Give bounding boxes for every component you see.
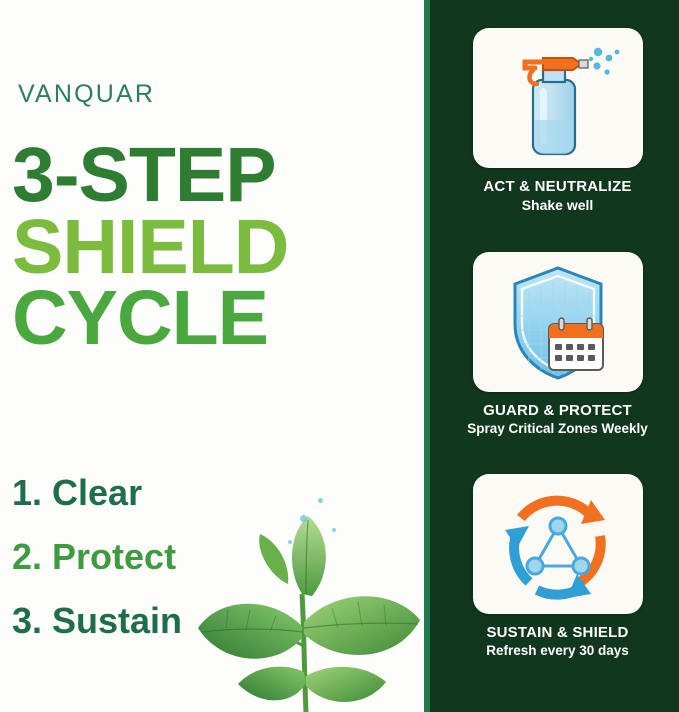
headline-line-3: CYCLE bbox=[12, 283, 288, 355]
water-droplet-3 bbox=[288, 540, 292, 544]
water-droplet-4 bbox=[332, 528, 336, 532]
step-card-3-subtitle: Refresh every 30 days bbox=[430, 643, 679, 658]
headline-line-2: SHIELD bbox=[12, 212, 288, 284]
step-item-3: 3. Sustain bbox=[12, 600, 182, 642]
step-item-2: 2. Protect bbox=[12, 536, 182, 578]
water-droplet-2 bbox=[318, 498, 323, 503]
step-card-3-title: SUSTAIN & SHIELD bbox=[430, 624, 679, 641]
step-card-1-subtitle: Shake well bbox=[430, 197, 679, 213]
step-card-3-tile bbox=[473, 474, 643, 614]
step-item-1: 1. Clear bbox=[12, 472, 182, 514]
left-panel: VANQUAR 3-STEP SHIELD CYCLE 1. Clear 2. … bbox=[0, 0, 424, 712]
step-card-2: GUARD & PROTECT Spray Critical Zones Wee… bbox=[430, 252, 679, 436]
brand-name: VANQUAR bbox=[18, 80, 155, 109]
step-card-3: SUSTAIN & SHIELD Refresh every 30 days bbox=[430, 474, 679, 658]
step-list: 1. Clear 2. Protect 3. Sustain bbox=[12, 472, 182, 664]
step-card-1: ACT & NEUTRALIZE Shake well bbox=[430, 28, 679, 213]
water-droplet-1 bbox=[300, 515, 307, 522]
headline: 3-STEP SHIELD CYCLE bbox=[12, 140, 288, 355]
recycle-arrows-icon bbox=[473, 474, 643, 614]
mint-leaves-illustration bbox=[180, 476, 424, 712]
spray-bottle-icon bbox=[473, 28, 643, 168]
poster: VANQUAR 3-STEP SHIELD CYCLE 1. Clear 2. … bbox=[0, 0, 679, 712]
right-panel: ACT & NEUTRALIZE Shake well bbox=[424, 0, 679, 712]
step-card-2-subtitle: Spray Critical Zones Weekly bbox=[430, 421, 679, 436]
shield-calendar-icon bbox=[473, 252, 643, 392]
headline-line-1: 3-STEP bbox=[12, 140, 288, 212]
step-card-2-tile bbox=[473, 252, 643, 392]
step-card-1-title: ACT & NEUTRALIZE bbox=[430, 178, 679, 195]
step-card-2-title: GUARD & PROTECT bbox=[430, 402, 679, 419]
step-card-1-tile bbox=[473, 28, 643, 168]
